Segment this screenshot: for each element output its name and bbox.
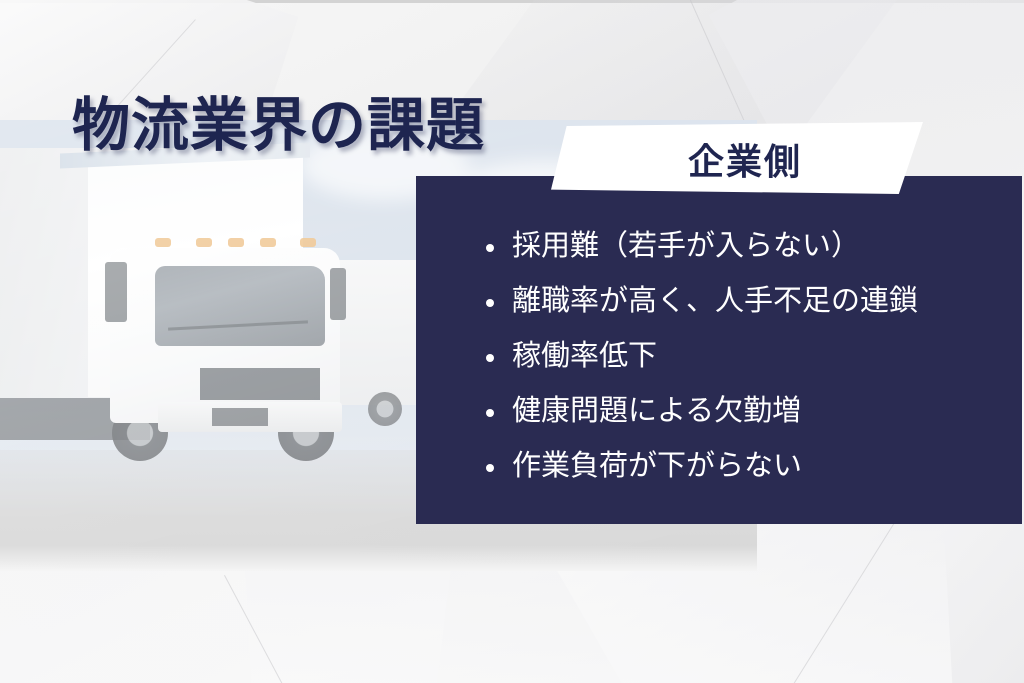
truck-license-plate [212,408,268,426]
top-border-line [0,0,1024,3]
list-item: 稼働率低下 [486,342,1016,397]
list-item-label: 稼働率低下 [512,342,657,371]
truck-marker-lamp [300,238,316,247]
list-item-label: 作業負荷が下がらない [512,452,802,481]
truck-marker-lamp [260,238,276,247]
truck-mirror [330,268,346,320]
truck-marker-lamp [228,238,244,247]
list-item: 健康問題による欠勤増 [486,397,1016,452]
truck-grille [200,368,320,400]
truck-mirror [105,262,127,322]
list-item-label: 健康問題による欠勤増 [512,397,801,426]
truck-marker-lamp [155,238,171,247]
list-item: 離職率が高く、人手不足の連鎖 [486,287,1016,342]
bullet-dot-icon [486,409,494,417]
page-title: 物流業界の課題 [72,78,485,162]
list-item: 作業負荷が下がらない [486,452,1016,507]
list-item-label: 採用難（若手が入らない） [512,232,860,261]
section-header-banner: 企業側 [551,122,923,194]
bullet-dot-icon [486,244,494,252]
slide-canvas: 物流業界の課題 企業側 採用難（若手が入らない） 離職率が高く、人手不足の連鎖 … [0,0,1024,683]
list-item-label: 離職率が高く、人手不足の連鎖 [512,287,918,316]
section-header-label: 企業側 [688,133,802,185]
bullet-dot-icon [486,464,494,472]
bullet-dot-icon [486,299,494,307]
bullet-dot-icon [486,354,494,362]
truck-marker-lamp [196,238,212,247]
truck-windshield [155,266,325,346]
issue-bullet-list: 採用難（若手が入らない） 離職率が高く、人手不足の連鎖 稼働率低下 健康問題によ… [486,232,1016,507]
list-item: 採用難（若手が入らない） [486,232,1016,287]
second-truck-wheel [368,392,402,426]
